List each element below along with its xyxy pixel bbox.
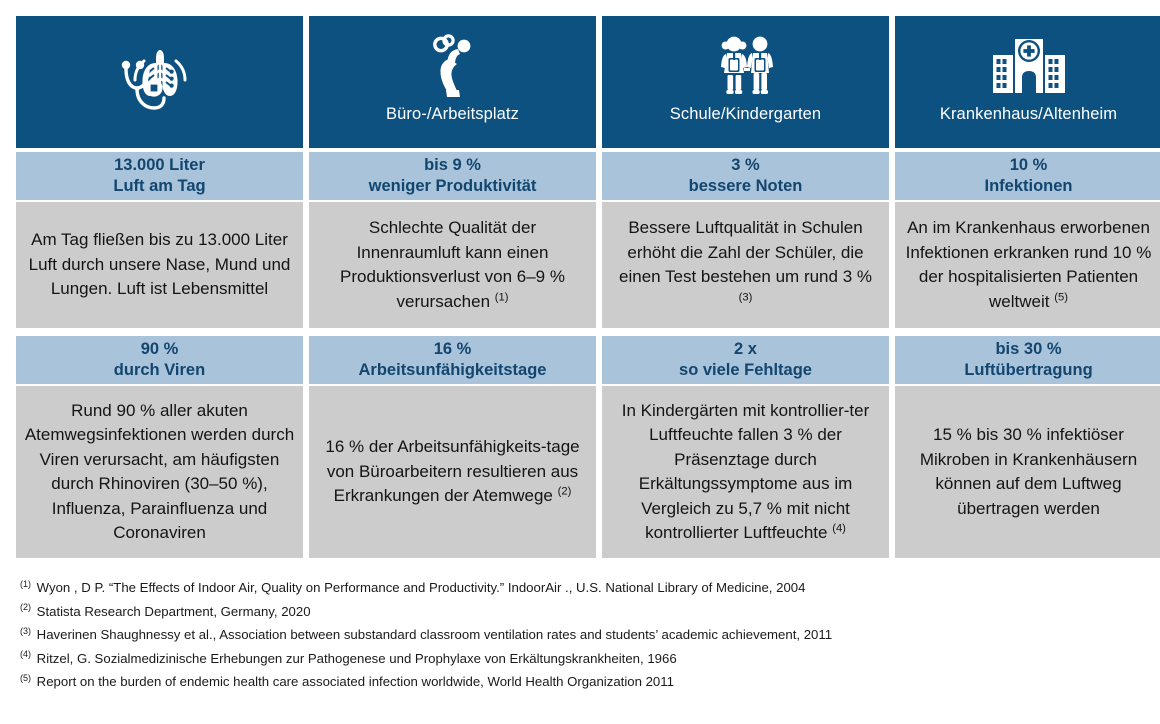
detail-cell: 16 % der Arbeitsunfähigkeits-tage von Bü… <box>309 386 596 558</box>
detail-cell: Bessere Luftqualität in Schulen erhöht d… <box>602 202 889 332</box>
body-row-1: Schlechte Qualität der Innenraumluft kan… <box>309 202 596 332</box>
column-school: Schule/Kindergarten 3 % bessere Noten Be… <box>602 16 889 558</box>
stat-caption: durch Viren <box>114 360 205 381</box>
footnote-text: Ritzel, G. Sozialmedizinische Erhebungen… <box>37 651 677 666</box>
body-row-2: In Kindergärten mit kontrollier-ter Luft… <box>602 386 889 558</box>
detail-text: Bessere Luftqualität in Schulen erhöht d… <box>610 216 881 314</box>
two-school-children-icon <box>710 30 782 102</box>
footnote-item: (5) Report on the burden of endemic heal… <box>20 670 1144 694</box>
column-header-hospital: Krankenhaus/Altenheim <box>895 16 1160 148</box>
column-header-school: Schule/Kindergarten <box>602 16 889 148</box>
column-hospital: Krankenhaus/Altenheim 10 % Infektionen A… <box>895 16 1160 558</box>
detail-text: Schlechte Qualität der Innenraumluft kan… <box>317 216 588 314</box>
body-row-1: Bessere Luftqualität in Schulen erhöht d… <box>602 202 889 332</box>
footnote-item: (3) Haverinen Shaughnessy et al., Associ… <box>20 623 1144 647</box>
stat-caption: Infektionen <box>984 176 1072 197</box>
infographic-page: 13.000 Liter Luft am Tag Am Tag fließen … <box>0 0 1160 724</box>
detail-cell: An im Krankenhaus erworbenen Infektionen… <box>895 202 1160 332</box>
footnote-ref: (4) <box>832 522 846 534</box>
stat-caption: bessere Noten <box>689 176 803 197</box>
stat-band-1: 3 % bessere Noten <box>602 148 889 202</box>
stat-caption: Luft am Tag <box>113 176 205 197</box>
stat-band-2: 90 % durch Viren <box>16 332 303 386</box>
footnote-text: Statista Research Department, Germany, 2… <box>37 604 311 619</box>
body-row-2: Rund 90 % aller akuten Atemwegsinfektion… <box>16 386 303 558</box>
column-header-label: Büro-/Arbeitsplatz <box>386 104 519 124</box>
footnotes-list: (1) Wyon , D P. “The Effects of Indoor A… <box>16 576 1144 694</box>
stat-value: 3 % <box>731 155 759 176</box>
footnote-ref: (5) <box>1054 291 1068 303</box>
detail-text: Am Tag fließen bis zu 13.000 Liter Luft … <box>24 228 295 302</box>
stethoscope-lungs-icon <box>114 30 206 130</box>
stat-value: bis 30 % <box>995 339 1061 360</box>
stats-grid: 13.000 Liter Luft am Tag Am Tag fließen … <box>16 16 1144 558</box>
footnote-marker: (1) <box>20 579 31 589</box>
column-office: Büro-/Arbeitsplatz bis 9 % weniger Produ… <box>309 16 596 558</box>
detail-cell: In Kindergärten mit kontrollier-ter Luft… <box>602 386 889 558</box>
stat-caption: so viele Fehltage <box>679 360 812 381</box>
footnote-ref: (1) <box>495 291 509 303</box>
stat-value: 90 % <box>141 339 179 360</box>
column-header-label: Krankenhaus/Altenheim <box>940 104 1117 124</box>
footnote-item: (1) Wyon , D P. “The Effects of Indoor A… <box>20 576 1144 600</box>
stat-band-1: bis 9 % weniger Produktivität <box>309 148 596 202</box>
stat-value: 13.000 Liter <box>114 155 205 176</box>
footnote-marker: (4) <box>20 649 31 659</box>
detail-cell: Schlechte Qualität der Innenraumluft kan… <box>309 202 596 332</box>
stat-value: bis 9 % <box>424 155 481 176</box>
detail-cell: Rund 90 % aller akuten Atemwegsinfektion… <box>16 386 303 558</box>
stat-band-1: 13.000 Liter Luft am Tag <box>16 148 303 202</box>
stat-value: 16 % <box>434 339 472 360</box>
stat-value: 2 x <box>734 339 757 360</box>
detail-text: In Kindergärten mit kontrollier-ter Luft… <box>610 399 881 546</box>
column-general-air: 13.000 Liter Luft am Tag Am Tag fließen … <box>16 16 303 558</box>
body-row-1: Am Tag fließen bis zu 13.000 Liter Luft … <box>16 202 303 332</box>
stat-caption: weniger Produktivität <box>369 176 537 197</box>
stat-band-2: 16 % Arbeitsunfähigkeitstage <box>309 332 596 386</box>
detail-text: Rund 90 % aller akuten Atemwegsinfektion… <box>24 399 295 546</box>
stat-band-2: 2 x so viele Fehltage <box>602 332 889 386</box>
footnote-marker: (3) <box>20 626 31 636</box>
detail-text: 16 % der Arbeitsunfähigkeits-tage von Bü… <box>317 435 588 509</box>
footnote-text: Haverinen Shaughnessy et al., Associatio… <box>37 627 832 642</box>
stat-caption: Luftübertragung <box>964 360 1092 381</box>
stat-band-2: bis 30 % Luftübertragung <box>895 332 1160 386</box>
footnote-ref: (2) <box>558 486 572 498</box>
detail-cell: 15 % bis 30 % infektiöser Mikroben in Kr… <box>895 386 1160 558</box>
footnote-marker: (5) <box>20 673 31 683</box>
body-row-2: 15 % bis 30 % infektiöser Mikroben in Kr… <box>895 386 1160 558</box>
body-row-1: An im Krankenhaus erworbenen Infektionen… <box>895 202 1160 332</box>
column-header-label: Schule/Kindergarten <box>670 104 821 124</box>
body-row-2: 16 % der Arbeitsunfähigkeits-tage von Bü… <box>309 386 596 558</box>
detail-text: An im Krankenhaus erworbenen Infektionen… <box>903 216 1154 314</box>
stat-value: 10 % <box>1010 155 1048 176</box>
column-header-office: Büro-/Arbeitsplatz <box>309 16 596 148</box>
hospital-building-icon <box>989 30 1069 102</box>
footnote-ref: (3) <box>739 291 753 303</box>
stat-band-1: 10 % Infektionen <box>895 148 1160 202</box>
office-worker-desk-icon <box>417 30 489 102</box>
footnote-marker: (2) <box>20 602 31 612</box>
footnote-item: (4) Ritzel, G. Sozialmedizinische Erhebu… <box>20 647 1144 671</box>
detail-text: 15 % bis 30 % infektiöser Mikroben in Kr… <box>903 423 1154 521</box>
column-header-general-air <box>16 16 303 148</box>
detail-cell: Am Tag fließen bis zu 13.000 Liter Luft … <box>16 202 303 332</box>
footnote-text: Wyon , D P. “The Effects of Indoor Air, … <box>37 580 806 595</box>
stat-caption: Arbeitsunfähigkeitstage <box>359 360 547 381</box>
footnote-item: (2) Statista Research Department, German… <box>20 600 1144 624</box>
footnote-text: Report on the burden of endemic health c… <box>37 674 674 689</box>
